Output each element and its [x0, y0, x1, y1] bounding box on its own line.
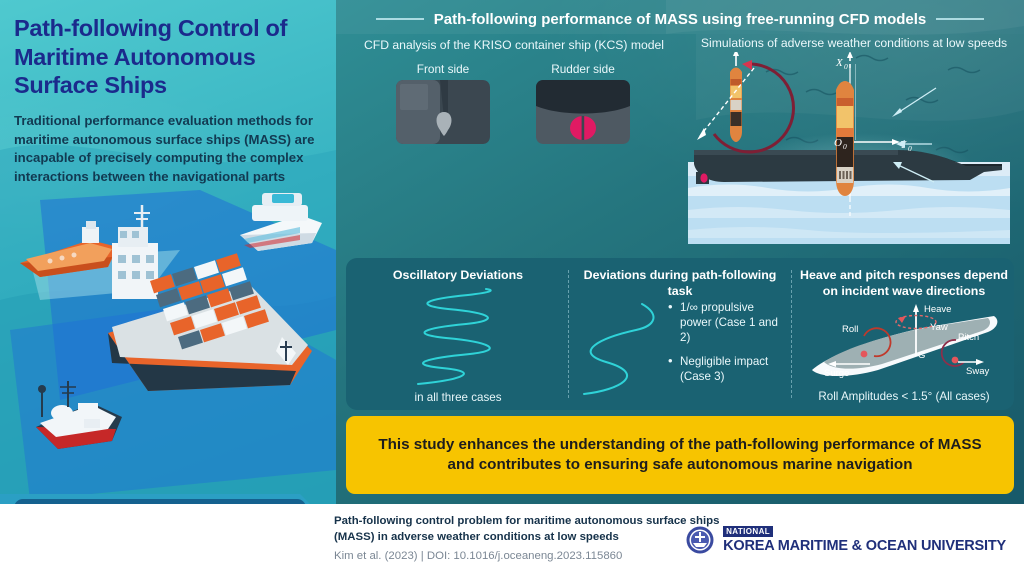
ships-illustration — [0, 185, 336, 505]
svg-text:Surge: Surge — [824, 368, 849, 379]
conclusion-banner: This study enhances the understanding of… — [346, 416, 1014, 494]
cfd-subtitle: CFD analysis of the KRISO container ship… — [344, 38, 684, 52]
logo-national-label: NATIONAL — [723, 526, 773, 537]
finding-2-title: Deviations during path-following task — [578, 268, 782, 299]
svg-text:Heave: Heave — [924, 304, 951, 315]
footer-left-background — [0, 504, 320, 576]
reference-ship-axes: X 0 Y 0 O 0 — [834, 52, 912, 216]
svg-text:0: 0 — [908, 144, 912, 153]
rudder-side-render — [536, 80, 630, 144]
weather-simulation-diagram: X 0 Y 0 O 0 — [684, 52, 1024, 252]
conclusion-text: This study enhances the understanding of… — [372, 435, 988, 475]
findings-divider-1 — [568, 270, 569, 398]
research-vessel — [36, 381, 122, 449]
case-arrows — [896, 88, 936, 182]
page-subtitle: Traditional performance evaluation metho… — [14, 112, 330, 187]
finding-1-footer: in all three cases — [354, 391, 562, 404]
svg-text:G: G — [918, 350, 925, 361]
six-dof-ship-diagram: Heave Yaw G Roll Surge Pitch Sway — [798, 298, 1012, 386]
header-row: Path-following performance of MASS using… — [336, 8, 1024, 30]
finding-2-bullet-2: Negligible impact (Case 3) — [668, 354, 786, 384]
oscillation-high-frequency — [398, 288, 518, 386]
svg-text:0: 0 — [843, 142, 847, 151]
findings-panel: Oscillatory Deviations in all three case… — [346, 258, 1014, 410]
cruise-ship — [240, 193, 322, 251]
svg-text:0: 0 — [844, 62, 848, 71]
finding-2-bullet-1: 1/∞ propulsive power (Case 1 and 2) — [668, 300, 786, 345]
finding-3-footer: Roll Amplitudes < 1.5° (All cases) — [798, 390, 1010, 403]
front-side-hull-render — [396, 80, 490, 144]
thumb-front-side[interactable] — [396, 80, 490, 144]
svg-text:O: O — [834, 137, 842, 149]
findings-divider-2 — [791, 270, 792, 398]
header-rule-left — [376, 18, 424, 20]
thumb-front-label: Front side — [388, 62, 498, 76]
svg-text:Roll: Roll — [842, 324, 858, 335]
infographic-root: Path-following Control of Maritime Auton… — [0, 0, 1024, 576]
university-logo: NATIONAL KOREA MARITIME & OCEAN UNIVERSI… — [685, 522, 1006, 558]
page-title: Path-following Control of Maritime Auton… — [14, 14, 326, 100]
svg-text:X: X — [835, 57, 844, 69]
logo-university-name: KOREA MARITIME & OCEAN UNIVERSITY — [723, 539, 1006, 554]
main-header-title: Path-following performance of MASS using… — [434, 11, 927, 28]
finding-2-bullets: 1/∞ propulsive power (Case 1 and 2) Negl… — [668, 300, 786, 393]
header-rule-right — [936, 18, 984, 20]
weather-subtitle: Simulations of adverse weather condition… — [688, 36, 1020, 51]
thumb-rudder-side[interactable] — [536, 80, 630, 144]
university-emblem-icon — [685, 525, 715, 555]
tanker-ship — [20, 221, 118, 277]
left-column: Path-following Control of Maritime Auton… — [0, 0, 336, 576]
finding-1-title: Oscillatory Deviations — [354, 268, 562, 284]
logo-text-block: NATIONAL KOREA MARITIME & OCEAN UNIVERSI… — [723, 526, 1006, 554]
footer: Path-following control problem for marit… — [320, 504, 1024, 576]
svg-text:Sway: Sway — [966, 366, 989, 377]
finding-3-title: Heave and pitch responses depend on inci… — [798, 268, 1010, 299]
oscillation-low-frequency — [582, 300, 664, 396]
svg-text:Pitch: Pitch — [958, 332, 979, 343]
svg-text:Yaw: Yaw — [930, 322, 948, 333]
encounter-angle-ship — [697, 52, 793, 152]
thumb-rudder-label: Rudder side — [528, 62, 638, 76]
